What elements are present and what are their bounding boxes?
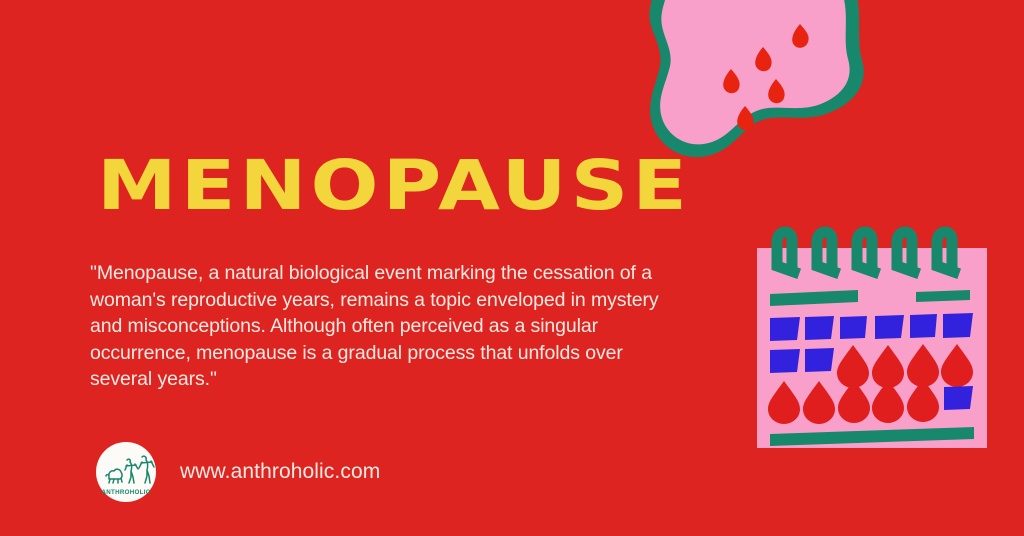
pad-blob-outline xyxy=(649,0,863,157)
calendar-day-blue xyxy=(805,348,834,372)
pad-blob-fill xyxy=(660,0,849,144)
menstrual-calendar xyxy=(748,222,996,458)
calendar-day-blue xyxy=(944,386,973,410)
anthroholic-logo[interactable]: ANTHROHOLIC xyxy=(96,442,156,502)
pad-blob-droplets xyxy=(723,24,808,130)
evolution-icon: ANTHROHOLIC xyxy=(96,442,156,502)
calendar-top-bar-short xyxy=(916,290,970,302)
calendar-day-blue xyxy=(840,316,867,339)
menopause-poster: MENOPAUSE "Menopause, a natural biologic… xyxy=(0,0,1024,536)
logo-wordmark: ANTHROHOLIC xyxy=(101,489,150,496)
calendar-day-blue xyxy=(805,316,834,340)
calendar-day-blue xyxy=(910,314,937,338)
website-url[interactable]: www.anthroholic.com xyxy=(180,460,380,484)
calendar-day-blue xyxy=(770,349,800,373)
brand-footer: ANTHROHOLIC www.anthroholic.com xyxy=(96,442,380,502)
calendar-day-blue xyxy=(875,315,904,339)
page-title: MENOPAUSE xyxy=(97,147,691,225)
quote-text: "Menopause, a natural biological event m… xyxy=(90,260,690,393)
calendar-day-blue xyxy=(770,317,800,341)
calendar-day-blue xyxy=(943,313,973,338)
